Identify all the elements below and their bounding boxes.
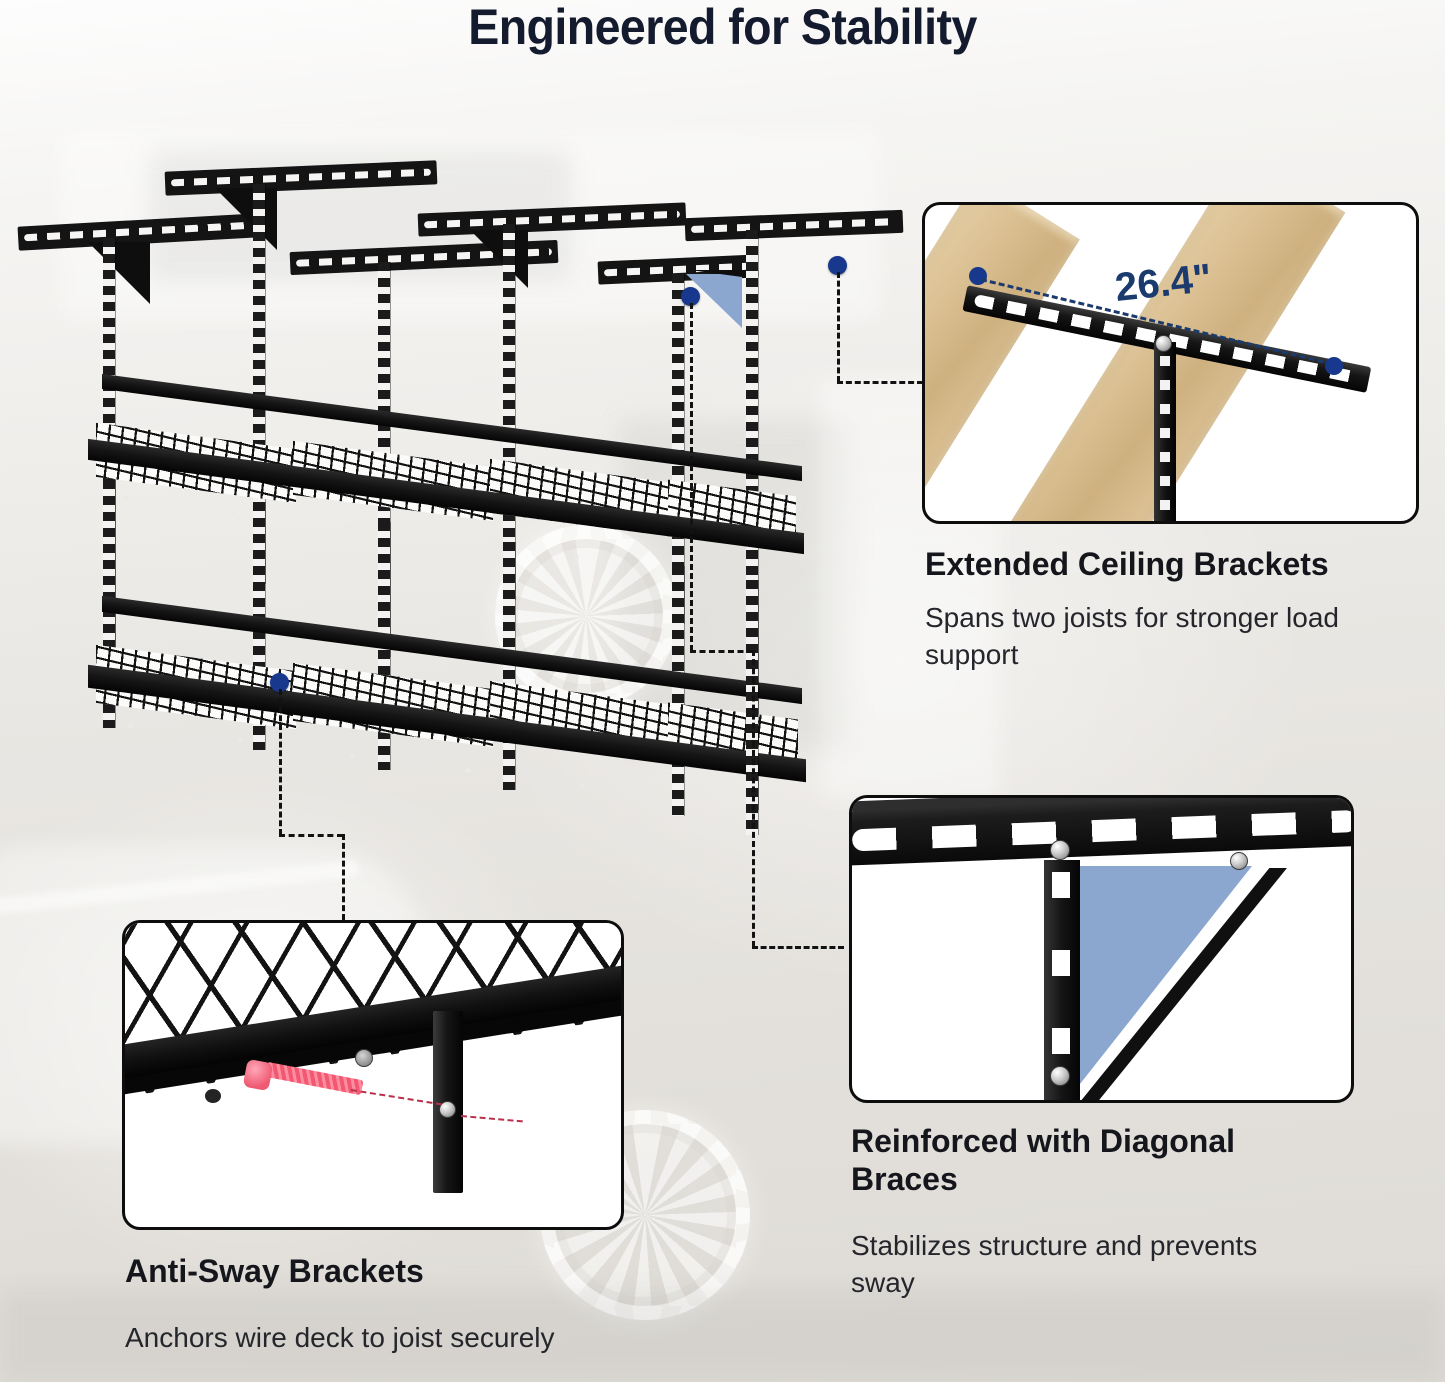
leader-line-anti-sway-v2 — [342, 834, 345, 920]
bracket-gusset-1 — [88, 242, 150, 304]
caption-subtitle-ceiling-brackets: Spans two joists for stronger load suppo… — [925, 600, 1403, 674]
panel-ceiling-brackets-art: 26.4" — [925, 205, 1416, 521]
top-rail-slot-row — [852, 810, 1351, 851]
caption-title-ceiling-brackets: Extended Ceiling Brackets — [925, 545, 1445, 583]
ceiling-bracket-arm-6 — [685, 210, 904, 241]
deck-rivet — [350, 753, 355, 758]
bracket-slot-row — [691, 218, 897, 233]
caption-subtitle-diagonal-braces: Stabilizes structure and prevents sway — [851, 1228, 1271, 1302]
bracket-slot-row — [171, 169, 431, 187]
diagonal-brace-blue-triangle — [1080, 866, 1252, 1084]
brace-vertical-column — [1044, 860, 1080, 1100]
brace-top-rail — [852, 798, 1351, 866]
deck-rivet — [230, 510, 235, 515]
leader-line-anti-sway-v1 — [279, 689, 282, 835]
deck-rivet — [124, 496, 129, 501]
dimension-endpoint-right — [1325, 357, 1343, 375]
anti-sway-screw-head — [243, 1059, 274, 1091]
panel-anti-sway — [122, 920, 624, 1230]
rail-hole-secondary — [205, 1089, 221, 1103]
deck-rivet — [128, 724, 133, 729]
panel-diagonal-braces-art — [852, 798, 1351, 1100]
upper-deck — [88, 408, 800, 528]
deck-rivet — [238, 738, 243, 743]
deck-rivet — [460, 540, 465, 545]
page-title: Engineered for Stability — [51, 0, 1395, 56]
rail-mounting-hole — [355, 1049, 373, 1067]
panel-diagonal-braces — [849, 795, 1354, 1103]
dimension-endpoint-left — [969, 267, 987, 285]
caption-title-diagonal-braces: Reinforced with Diagonal Braces — [851, 1122, 1321, 1199]
anti-sway-screw-shaft — [264, 1062, 363, 1095]
panel-anti-sway-art — [125, 923, 621, 1227]
post-hole-column — [1160, 356, 1170, 521]
leader-line-ceiling-bracket-v — [837, 272, 840, 382]
bracket-vertical-post — [1154, 342, 1176, 521]
brace-bolt-top-center — [1050, 840, 1070, 860]
infographic-page: Engineered for Stability — [0, 0, 1445, 1382]
caption-subtitle-anti-sway: Anchors wire deck to joist securely — [125, 1320, 725, 1357]
deck-rivet — [466, 768, 471, 773]
bracket-slot-row — [424, 210, 680, 228]
leader-line-ceiling-bracket-h — [837, 381, 923, 384]
rack-illustration — [0, 150, 900, 890]
bracket-slot-row — [24, 222, 252, 242]
screw-path-line-2 — [461, 1115, 523, 1122]
deck-rivet — [574, 555, 579, 560]
leader-line-diagonal-brace-v2 — [752, 650, 755, 947]
screw-path-line-1 — [351, 1089, 442, 1105]
leader-line-diagonal-brace-h2 — [752, 946, 844, 949]
ceiling-bracket-arm-2 — [165, 160, 438, 195]
ceiling-bracket-arm-4 — [418, 202, 687, 236]
brace-bolt-bottom — [1050, 1066, 1070, 1086]
deck-rivet — [580, 783, 585, 788]
caption-title-anti-sway: Anti-Sway Brackets — [125, 1252, 595, 1290]
leader-line-diagonal-brace-h1 — [690, 650, 753, 653]
panel-ceiling-brackets: 26.4" — [922, 202, 1419, 524]
deck-rivet — [344, 524, 349, 529]
brace-bolt-top-right — [1230, 852, 1248, 870]
leader-line-diagonal-brace-v1 — [690, 303, 693, 651]
leader-line-anti-sway-h1 — [279, 834, 343, 837]
bracket-center-bolt — [1155, 335, 1172, 352]
deck-rivet — [694, 798, 699, 803]
